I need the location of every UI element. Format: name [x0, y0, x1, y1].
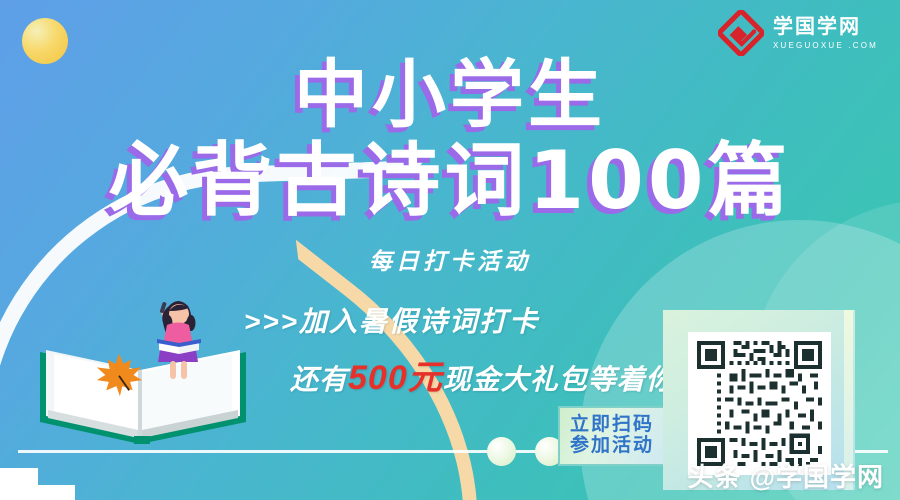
promo-line-2: 还有500元现金大礼包等着你! — [244, 350, 674, 399]
site-logo[interactable]: 学国学网 XUEGUOXUE .COM — [718, 10, 878, 56]
cta-line-2: 参加活动 — [570, 435, 654, 456]
qr-code[interactable] — [688, 332, 831, 475]
reading-girl-icon — [143, 292, 211, 384]
promo-line2-suffix: 现金大礼包等着你! — [443, 364, 685, 395]
promo-line2-prefix: 还有 — [290, 364, 348, 395]
cta-line-1: 立即扫码 — [570, 414, 654, 435]
white-step-decoration — [0, 485, 75, 500]
logo-site-name: 学国学网 — [773, 17, 878, 37]
logo-site-url: XUEGUOXUE .COM — [773, 42, 878, 50]
promo-line-1: >>>加入暑假诗词打卡 — [244, 300, 674, 340]
maple-leaf-icon — [92, 352, 146, 398]
line-dot-decoration — [487, 437, 516, 466]
xueguoxue-diamond-logo-icon — [718, 10, 764, 56]
watermark-text: 头条 @学国学网 — [687, 457, 884, 494]
hero-title-line1: 中小学生 — [0, 58, 900, 132]
promo-copy-block: >>>加入暑假诗词打卡 还有500元现金大礼包等着你! — [244, 300, 674, 399]
promo-amount-highlight: 500元 — [348, 359, 443, 397]
hero-subtitle: 每日打卡活动 — [0, 242, 900, 276]
hero-title-block: 中小学生 必背古诗词100篇 — [0, 58, 900, 221]
hero-title-line2: 必背古诗词100篇 — [0, 141, 900, 221]
promo-banner: 学国学网 XUEGUOXUE .COM 中小学生 必背古诗词100篇 每日打卡活… — [0, 0, 900, 500]
scan-cta-badge[interactable]: 立即扫码 参加活动 — [558, 406, 666, 466]
